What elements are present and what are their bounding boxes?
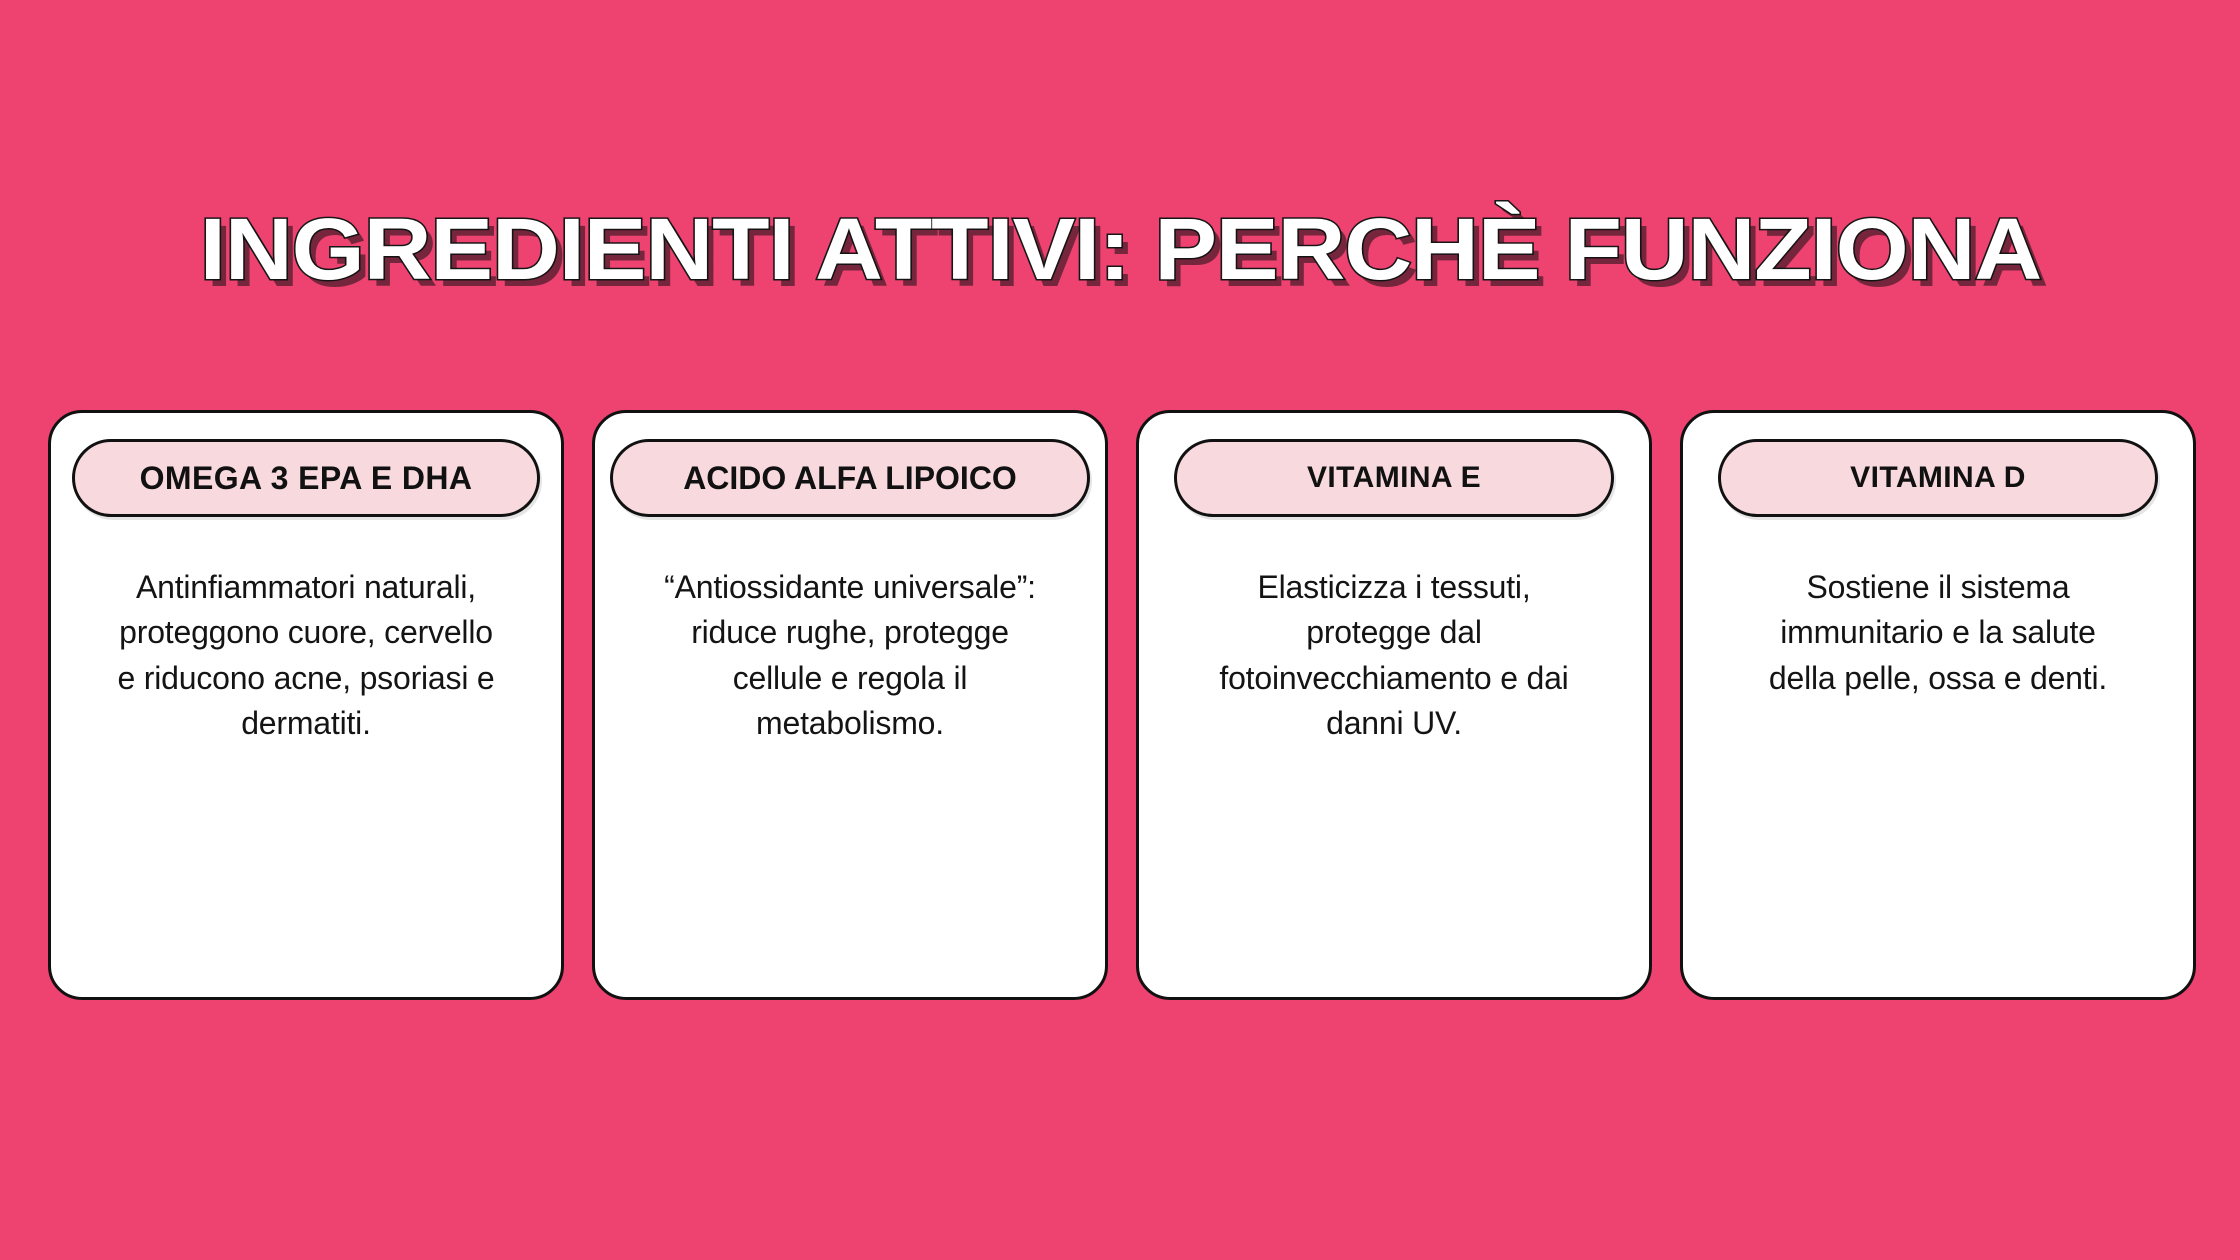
ingredient-cards-row: OMEGA 3 EPA E DHA Antinfiammatori natura…	[48, 410, 2196, 1000]
ingredient-badge: VITAMINA D	[1718, 439, 2158, 517]
ingredient-description: “Antiossidante universale”: riduce rughe…	[607, 565, 1093, 747]
ingredient-badge-label: ACIDO ALFA LIPOICO	[683, 460, 1017, 497]
ingredient-card-omega-3[interactable]: OMEGA 3 EPA E DHA Antinfiammatori natura…	[48, 410, 564, 1000]
ingredient-card-vitamina-e[interactable]: VITAMINA E Elasticizza i tessuti, proteg…	[1136, 410, 1652, 1000]
ingredient-badge: ACIDO ALFA LIPOICO	[610, 439, 1090, 517]
ingredient-badge: OMEGA 3 EPA E DHA	[72, 439, 540, 517]
title-row: INGREDIENTI ATTIVI: PERCHÈ FUNZIONA	[0, 206, 2240, 293]
ingredient-badge: VITAMINA E	[1174, 439, 1614, 517]
ingredient-description: Elasticizza i tessuti, protegge dal foto…	[1151, 565, 1637, 747]
ingredient-badge-label: VITAMINA E	[1307, 461, 1481, 495]
ingredient-card-acido-alfa-lipoico[interactable]: ACIDO ALFA LIPOICO “Antiossidante univer…	[592, 410, 1108, 1000]
ingredient-badge-label: OMEGA 3 EPA E DHA	[140, 460, 473, 497]
ingredient-description: Sostiene il sistema immunitario e la sal…	[1695, 565, 2181, 701]
ingredient-card-vitamina-d[interactable]: VITAMINA D Sostiene il sistema immunitar…	[1680, 410, 2196, 1000]
ingredient-badge-label: VITAMINA D	[1850, 461, 2026, 495]
page-title: INGREDIENTI ATTIVI: PERCHÈ FUNZIONA	[199, 206, 2040, 293]
ingredient-description: Antinfiammatori naturali, proteggono cuo…	[63, 565, 549, 747]
